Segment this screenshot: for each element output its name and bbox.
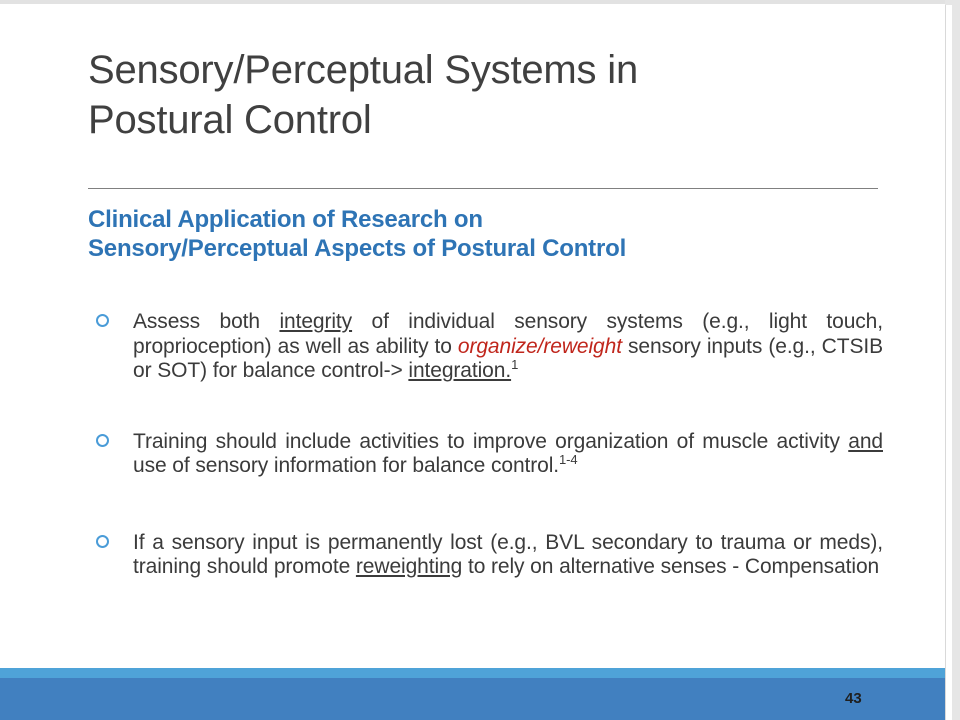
footer-band xyxy=(0,678,945,720)
list-item: Assess both integrity of individual sens… xyxy=(88,310,883,384)
slide-subtitle: Clinical Application of Research on Sens… xyxy=(88,205,888,263)
open-circle-bullet-icon xyxy=(96,434,109,447)
list-item: If a sensory input is permanently lost (… xyxy=(88,531,883,580)
slide-top-edge-inner xyxy=(0,4,945,6)
open-circle-bullet-icon xyxy=(96,314,109,327)
list-item: Training should include activities to im… xyxy=(88,430,883,479)
presentation-slide: Sensory/Perceptual Systems in Postural C… xyxy=(0,0,960,720)
bullet-text: If a sensory input is permanently lost (… xyxy=(133,531,883,580)
page-number: 43 xyxy=(845,690,862,707)
slide-title: Sensory/Perceptual Systems in Postural C… xyxy=(88,45,888,145)
bullet-text: Training should include activities to im… xyxy=(133,430,883,479)
bullet-text: Assess both integrity of individual sens… xyxy=(133,310,883,384)
open-circle-bullet-icon xyxy=(96,535,109,548)
slide-right-hairline xyxy=(945,5,946,720)
footer-accent-band xyxy=(0,668,945,678)
title-divider-rule xyxy=(88,188,878,189)
bullet-list: Assess both integrity of individual sens… xyxy=(88,310,883,580)
slide-right-edge-inner xyxy=(945,5,952,720)
